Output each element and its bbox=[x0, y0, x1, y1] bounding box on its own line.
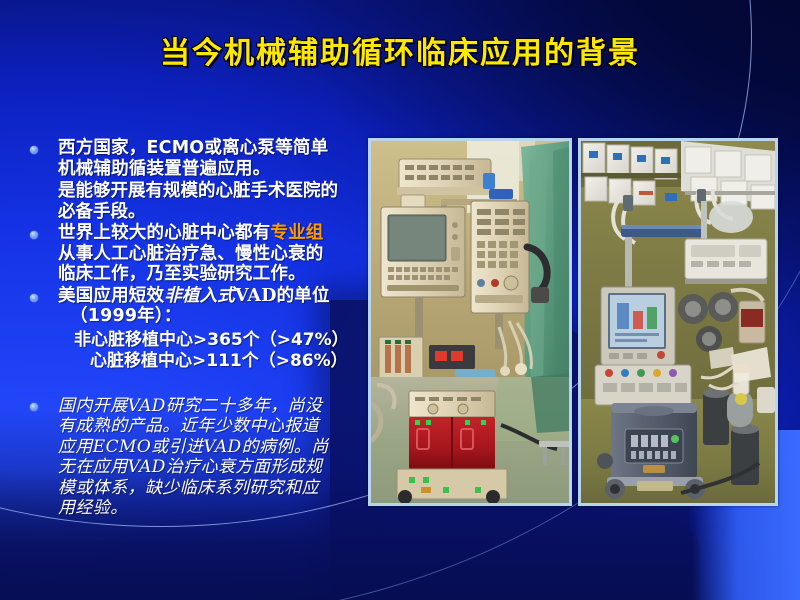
bullet-4-line-3: 应用ECMO或引进VAD的病例。尚 bbox=[58, 437, 362, 458]
bullet-1-cont-line-1: 是能够开展有规模的心脏手术医院的 bbox=[58, 181, 362, 202]
bullet-3-sub-line-2: 心脏移植中心>111个（>86%） bbox=[90, 351, 362, 372]
bullet-3-latin-term: VAD bbox=[235, 286, 277, 306]
bullet-1-line-1: 西方国家，ECMO或离心泵等简单 bbox=[58, 138, 362, 159]
bullet-3-prefix: 美国应用短效 bbox=[58, 286, 164, 306]
bullet-4-line-2: 有成熟的产品。近年少数中心报道 bbox=[58, 416, 362, 437]
bullet-4-line-4: 无在应用VAD治疗心衰方面形成规 bbox=[58, 457, 362, 478]
bullet-1-line-2: 机械辅助循装置普遍应用。 bbox=[58, 159, 362, 180]
bullet-item-1: 西方国家，ECMO或离心泵等简单 机械辅助循装置普遍应用。 是能够开展有规模的心… bbox=[22, 138, 362, 222]
bullet-dot-icon bbox=[30, 231, 38, 239]
bullet-2-line-2: 从事人工心脏治疗急、慢性心衰的 bbox=[58, 244, 362, 265]
bullet-dot-icon bbox=[30, 403, 38, 411]
photo-ecmo-operating-room: 手术室内的体外膜肺氧合（ECMO）及机械辅助循环设备，含米色监护仪、控制面板与红… bbox=[368, 138, 572, 506]
bullet-2-line-1: 世界上较大的心脏中心都有专业组 bbox=[58, 223, 362, 244]
bullet-item-4: 国内开展VAD研究二十多年，尚没 有成熟的产品。近年少数中心报道 应用ECMO或… bbox=[22, 396, 362, 519]
photo-ecmo-operating-room-image bbox=[371, 141, 569, 503]
presentation-slide: 当今机械辅助循环临床应用的背景 西方国家，ECMO或离心泵等简单 机械辅助循装置… bbox=[0, 0, 800, 600]
bullet-3-sub-line-1: 非心脏移植中心>365个（>47%） bbox=[74, 330, 362, 351]
bullet-item-2: 世界上较大的心脏中心都有专业组 从事人工心脏治疗急、慢性心衰的 临床工作，乃至实… bbox=[22, 223, 362, 285]
bullet-item-3: 美国应用短效非植入式VAD的单位 （1999年）： 非心脏移植中心>365个（>… bbox=[22, 286, 362, 372]
bullet-2-prefix: 世界上较大的心脏中心都有 bbox=[58, 223, 270, 243]
slide-title: 当今机械辅助循环临床应用的背景 bbox=[0, 28, 800, 72]
bullet-3-suffix: 的单位 bbox=[277, 286, 330, 306]
bullet-2-highlight: 专业组 bbox=[270, 223, 323, 243]
photo-heart-lung-machine-image bbox=[581, 141, 775, 503]
bullet-1-cont-line-2: 必备手段。 bbox=[58, 202, 362, 223]
bullet-4-line-6: 用经验。 bbox=[58, 498, 362, 519]
bullet-3-italic-term: 非植入式 bbox=[164, 286, 235, 306]
bullet-dot-icon bbox=[30, 146, 38, 154]
bullet-2-line-3: 临床工作，乃至实验研究工作。 bbox=[58, 264, 362, 285]
bullet-3-line-2: （1999年）： bbox=[70, 306, 362, 327]
slide-body-content: 西方国家，ECMO或离心泵等简单 机械辅助循装置普遍应用。 是能够开展有规模的心… bbox=[22, 138, 362, 519]
bullet-4-line-1: 国内开展VAD研究二十多年，尚没 bbox=[58, 396, 362, 417]
bullet-4-line-5: 模或体系，缺少临床系列研究和应 bbox=[58, 478, 362, 499]
bullet-3-line-1: 美国应用短效非植入式VAD的单位 bbox=[58, 286, 362, 307]
bullet-dot-icon bbox=[30, 294, 38, 302]
photo-heart-lung-machine: 人工心肺机与离心泵控制台，带液晶显示屏及灰蓝色移动推车 bbox=[578, 138, 778, 506]
